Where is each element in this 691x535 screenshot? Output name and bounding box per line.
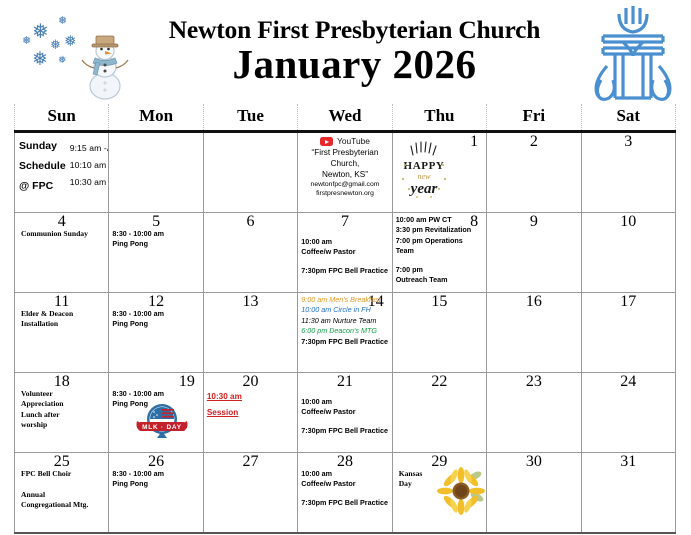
event-item[interactable]: 8:30 - 10:00 am (112, 309, 200, 319)
day-cell-13[interactable]: 13 (203, 293, 297, 373)
day-cell-14[interactable]: 149:00 am Men's Breakfast10:00 am Circle… (298, 293, 392, 373)
event-list: 10:00 amCoffee/w Pastor7:30pm FPC Bell P… (298, 213, 391, 276)
event-item[interactable]: 7:00 pm Operations (396, 236, 484, 246)
event-list: 10:00 amCoffee/w Pastor7:30pm FPC Bell P… (298, 373, 391, 436)
day-cell-28[interactable]: 2810:00 amCoffee/w Pastor7:30pm FPC Bell… (298, 453, 392, 534)
weekday-sat: Sat (581, 104, 675, 132)
event-item[interactable]: 10:00 am (301, 237, 389, 247)
event-item[interactable]: Coffee/w Pastor (301, 247, 389, 257)
weekday-wed: Wed (298, 104, 392, 132)
month-year-title: January 2026 (169, 44, 541, 85)
sunflower-graphic (437, 467, 485, 515)
day-note: Elder & DeaconInstallation (15, 293, 108, 330)
event-item[interactable]: Coffee/w Pastor (301, 407, 389, 417)
snowflake-icon: ❅ (58, 16, 67, 27)
event-item[interactable]: Coffee/w Pastor (301, 479, 389, 489)
day-number: 10 (582, 213, 675, 231)
winter-decoration: ❅ ❅ ❅ ❅ ❅ ❅ ❅ (14, 12, 142, 102)
youtube-header-row: YouTube (298, 136, 391, 147)
event-item[interactable]: 9:00 am Men's Breakfast (301, 295, 389, 305)
event-list: 8:30 - 10:00 amPing Pong (109, 373, 202, 410)
sunday-time-2: 10:10 am - Coffee Fellowship (70, 157, 109, 174)
day-cell-12[interactable]: 128:30 - 10:00 amPing Pong (109, 293, 203, 373)
weekday-tue: Tue (203, 104, 297, 132)
svg-text:new: new (417, 172, 431, 181)
day-number: 23 (487, 373, 580, 391)
calendar-page: ❅ ❅ ❅ ❅ ❅ ❅ ❅ (0, 0, 691, 535)
day-number: 9 (487, 213, 580, 231)
event-item[interactable]: 8:30 - 10:00 am (112, 469, 200, 479)
youtube-channel-line2: Church, (298, 159, 391, 170)
day-cell-6[interactable]: 6 (203, 213, 297, 293)
svg-text:year: year (408, 181, 437, 197)
day-cell-2[interactable]: 2 (487, 132, 581, 213)
day-note-line: Elder & Deacon (21, 309, 106, 319)
calendar-week-row: 18VolunteerAppreciationLunch afterworshi… (15, 373, 676, 453)
event-item[interactable]: 10:00 am PW CT (396, 215, 484, 225)
weekday-fri: Fri (487, 104, 581, 132)
event-item[interactable]: Ping Pong (112, 399, 200, 409)
church-name: Newton First Presbyterian Church (169, 17, 541, 43)
event-list: 9:00 am Men's Breakfast10:00 am Circle i… (298, 293, 391, 347)
event-item[interactable]: Outreach Team (396, 275, 484, 285)
day-number: 24 (582, 373, 675, 391)
calendar-week-row: 11Elder & DeaconInstallation128:30 - 10:… (15, 293, 676, 373)
header-titles: Newton First Presbyterian Church January… (169, 17, 541, 86)
day-cell-26[interactable]: 268:30 - 10:00 amPing Pong (109, 453, 203, 534)
snowflake-icon: ❅ (58, 56, 66, 66)
event-item[interactable]: 10:00 am (301, 469, 389, 479)
youtube-channel-line3: Newton, KS” (298, 170, 391, 181)
day-cell-8[interactable]: 810:00 am PW CT3:30 pm Revitalization7:0… (392, 213, 486, 293)
svg-text:HAPPY: HAPPY (403, 160, 444, 172)
sunday-label-line2: Schedule (19, 157, 66, 177)
calendar-week-row: Sunday Schedule @ FPC 9:15 am -Adult Bib… (15, 132, 676, 213)
calendar-week-row: 25FPC Bell Choir AnnualCongregational Mt… (15, 453, 676, 534)
day-note-line: Volunteer (21, 389, 106, 399)
sunday-schedule-block: Sunday Schedule @ FPC 9:15 am -Adult Bib… (15, 133, 108, 197)
sunday-time-1: 9:15 am -Adult Bible Study (70, 140, 109, 157)
day-cell-1[interactable]: 1 HAPPY new year (392, 132, 486, 213)
event-item[interactable]: 7:00 pm (396, 265, 484, 275)
event-item[interactable]: 8:30 - 10:00 am (112, 389, 200, 399)
youtube-info-block[interactable]: YouTube “First Presbyterian Church, Newt… (298, 133, 391, 199)
event-item[interactable]: Team (396, 246, 484, 256)
event-item[interactable]: 3:30 pm Revitalization (396, 225, 484, 235)
event-list: 10:00 amCoffee/w Pastor7:30pm FPC Bell P… (298, 453, 391, 508)
event-item[interactable]: Session (207, 405, 295, 421)
day-cell-blank[interactable] (203, 132, 297, 213)
calendar-body: Sunday Schedule @ FPC 9:15 am -Adult Bib… (15, 132, 676, 534)
sunday-label-line1: Sunday (19, 137, 66, 157)
presbyterian-cross-logo (581, 4, 685, 102)
day-number: 13 (204, 293, 297, 311)
day-cell-30[interactable]: 30 (487, 453, 581, 534)
day-note-line: worship (21, 420, 106, 430)
day-cell-18[interactable]: 18VolunteerAppreciationLunch afterworshi… (15, 373, 109, 453)
snowflake-icon: ❅ (64, 34, 77, 49)
snowman-icon (76, 26, 134, 100)
day-number: 27 (204, 453, 297, 471)
day-cell-4[interactable]: 4Communion Sunday (15, 213, 109, 293)
youtube-label: YouTube (337, 136, 370, 147)
day-cell-3[interactable]: 3 (581, 132, 675, 213)
day-number: 17 (582, 293, 675, 311)
day-note-line: FPC Bell Choir (21, 469, 106, 479)
event-list: 8:30 - 10:00 amPing Pong (109, 213, 202, 250)
day-cell-11[interactable]: 11Elder & DeaconInstallation (15, 293, 109, 373)
sunday-schedule-labels: Sunday Schedule @ FPC (19, 137, 66, 197)
day-note: Communion Sunday (15, 213, 108, 239)
day-note-line: Installation (21, 319, 106, 329)
weekday-sun: Sun (15, 104, 109, 132)
event-item[interactable]: 11:30 am Nurture Team (301, 316, 389, 326)
day-cell-23[interactable]: 23 (487, 373, 581, 453)
day-cell-15[interactable]: 15 (392, 293, 486, 373)
day-number: 2 (487, 133, 580, 151)
happy-new-year-graphic: HAPPY new year (397, 139, 451, 201)
event-list: 10:00 am PW CT3:30 pm Revitalization7:00… (393, 213, 486, 286)
day-note-line: Lunch after (21, 410, 106, 420)
day-cell-19[interactable]: 198:30 - 10:00 amPing Pong MLK · DAY (109, 373, 203, 453)
day-cell-blank[interactable]: YouTube “First Presbyterian Church, Newt… (298, 132, 392, 213)
sunday-time-3: 10:30 am -Worship & Livestream (70, 174, 109, 191)
event-item[interactable]: Ping Pong (112, 239, 200, 249)
day-cell-17[interactable]: 17 (581, 293, 675, 373)
event-list: 8:30 - 10:00 amPing Pong (109, 293, 202, 330)
day-number: 3 (582, 133, 675, 151)
event-item[interactable]: 7:30pm FPC Bell Practice (301, 266, 389, 276)
day-number: 16 (487, 293, 580, 311)
event-item[interactable]: 10:00 am (301, 397, 389, 407)
day-cell-27[interactable]: 27 (203, 453, 297, 534)
day-cell-29[interactable]: 29 KansasDay (392, 453, 486, 534)
church-website[interactable]: firstpresnewton.org (298, 190, 391, 199)
day-cell-10[interactable]: 10 (581, 213, 675, 293)
calendar-header: ❅ ❅ ❅ ❅ ❅ ❅ ❅ (0, 0, 691, 102)
day-cell-7[interactable]: 710:00 amCoffee/w Pastor7:30pm FPC Bell … (298, 213, 392, 293)
day-cell-5[interactable]: 58:30 - 10:00 amPing Pong (109, 213, 203, 293)
event-item[interactable]: 6:00 pm Deacon's MTG (301, 326, 389, 336)
svg-text:MLK · DAY: MLK · DAY (143, 424, 183, 431)
day-note: VolunteerAppreciationLunch afterworship (15, 373, 108, 430)
day-cell-20[interactable]: 2010:30 amSession (203, 373, 297, 453)
event-item[interactable]: 10:30 am (207, 389, 295, 405)
day-number: 22 (393, 373, 486, 391)
day-note-line: Communion Sunday (21, 229, 106, 239)
day-note-line: Congregational Mtg. (21, 500, 106, 510)
sunday-label-line3: @ FPC (19, 177, 66, 197)
snowflake-icon: ❅ (22, 36, 31, 47)
church-email[interactable]: newtonfpc@gmail.com (298, 181, 391, 190)
weekday-mon: Mon (109, 104, 203, 132)
event-list: 8:30 - 10:00 amPing Pong (109, 453, 202, 490)
calendar-table: Sun Mon Tue Wed Thu Fri Sat Sunday Sched… (14, 104, 676, 534)
event-item[interactable]: Ping Pong (112, 479, 200, 489)
day-cell-21[interactable]: 2110:00 amCoffee/w Pastor7:30pm FPC Bell… (298, 373, 392, 453)
day-note: FPC Bell Choir AnnualCongregational Mtg. (15, 453, 108, 510)
day-note-line (21, 479, 106, 489)
weekday-header-row: Sun Mon Tue Wed Thu Fri Sat (15, 104, 676, 132)
event-item[interactable]: 8:30 - 10:00 am (112, 229, 200, 239)
calendar-week-row: 4Communion Sunday58:30 - 10:00 amPing Po… (15, 213, 676, 293)
event-item[interactable]: 7:30pm FPC Bell Practice (301, 426, 389, 436)
day-cell-25[interactable]: 25FPC Bell Choir AnnualCongregational Mt… (15, 453, 109, 534)
day-cell-9[interactable]: 9 (487, 213, 581, 293)
event-item[interactable]: Ping Pong (112, 319, 200, 329)
day-number: 31 (582, 453, 675, 471)
day-cell-24[interactable]: 24 (581, 373, 675, 453)
youtube-channel-line1: “First Presbyterian (298, 148, 391, 159)
snowflake-icon: ❅ (32, 22, 49, 42)
day-number: 6 (204, 213, 297, 231)
weekday-thu: Thu (392, 104, 486, 132)
day-number: 30 (487, 453, 580, 471)
event-list: 10:30 amSession (204, 373, 297, 420)
event-item[interactable]: 7:30pm FPC Bell Practice (301, 337, 389, 347)
snowflake-icon: ❅ (50, 38, 61, 51)
day-cell-16[interactable]: 16 (487, 293, 581, 373)
day-cell-blank[interactable] (109, 132, 203, 213)
day-note-line: Annual (21, 490, 106, 500)
day-number: 15 (393, 293, 486, 311)
event-item[interactable]: 7:30pm FPC Bell Practice (301, 498, 389, 508)
youtube-icon (320, 137, 333, 146)
day-note-line: Appreciation (21, 399, 106, 409)
sunday-schedule-times: 9:15 am -Adult Bible Study 10:10 am - Co… (70, 137, 109, 190)
snowflake-icon: ❅ (32, 50, 48, 69)
event-item[interactable]: 10:00 am Circle in FH (301, 305, 389, 315)
day-cell-31[interactable]: 31 (581, 453, 675, 534)
day-cell-blank[interactable]: Sunday Schedule @ FPC 9:15 am -Adult Bib… (15, 132, 109, 213)
day-cell-22[interactable]: 22 (392, 373, 486, 453)
